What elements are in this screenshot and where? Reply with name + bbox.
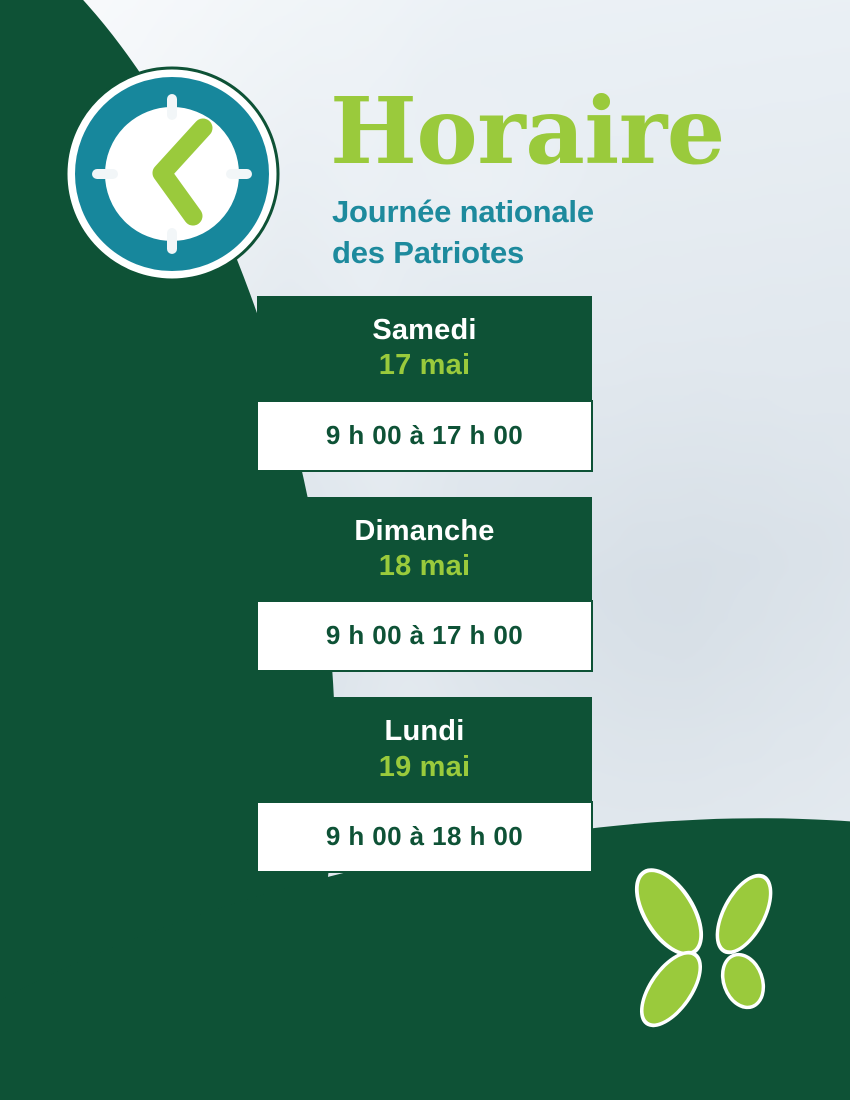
schedule-day-label: Lundi	[257, 715, 592, 748]
subtitle-line-1: Journée nationale	[332, 191, 732, 232]
schedule-card: Samedi 17 mai 9 h 00 à 17 h 00	[0, 296, 850, 472]
schedule-hours-label: 9 h 00 à 17 h 00	[258, 620, 591, 651]
schedule-poster: Horaire Journée nationale des Patriotes …	[0, 0, 850, 1100]
schedule-date-label: 17 mai	[257, 347, 592, 383]
butterfly-logo-icon	[612, 856, 802, 1046]
schedule-card: Lundi 19 mai 9 h 00 à 18 h 00	[0, 697, 850, 873]
schedule-hours-label: 9 h 00 à 18 h 00	[258, 821, 591, 852]
schedule-card: Dimanche 18 mai 9 h 00 à 17 h 00	[0, 497, 850, 673]
subtitle-line-2: des Patriotes	[332, 232, 732, 273]
schedule-card-header: Dimanche 18 mai	[257, 497, 592, 601]
schedule-day-label: Dimanche	[257, 515, 592, 548]
schedule-date-label: 18 mai	[257, 548, 592, 584]
schedule-card-header: Lundi 19 mai	[257, 697, 592, 801]
page-title: Horaire	[330, 86, 725, 176]
schedule-day-label: Samedi	[257, 314, 592, 347]
schedule-date-label: 19 mai	[257, 749, 592, 785]
schedule-card-body: 9 h 00 à 17 h 00	[256, 400, 593, 472]
page-subtitle: Journée nationale des Patriotes	[332, 191, 732, 273]
schedule-list: Samedi 17 mai 9 h 00 à 17 h 00 Dimanche …	[0, 296, 850, 898]
schedule-card-header: Samedi 17 mai	[257, 296, 592, 400]
schedule-card-body: 9 h 00 à 18 h 00	[256, 801, 593, 873]
schedule-hours-label: 9 h 00 à 17 h 00	[258, 420, 591, 451]
clock-icon	[64, 66, 280, 282]
schedule-card-body: 9 h 00 à 17 h 00	[256, 600, 593, 672]
